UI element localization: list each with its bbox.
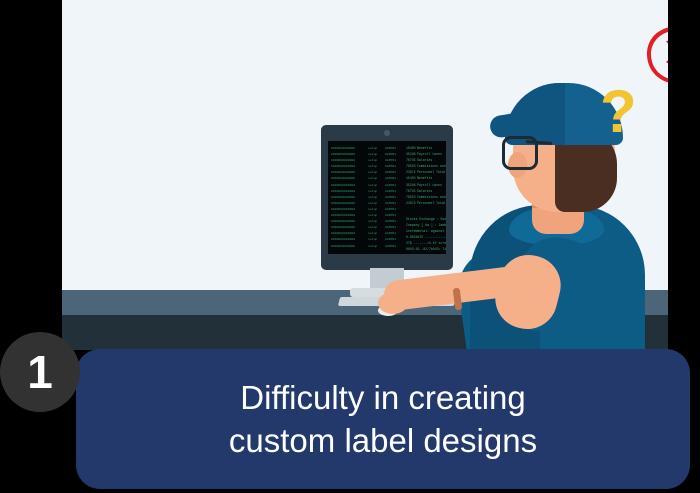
screen-terminal-output: Stocks Exchange : Sue 446 feed Company [… bbox=[406, 216, 446, 253]
question-mark-icon: ? bbox=[600, 82, 637, 142]
step-number-badge: 1 bbox=[0, 332, 80, 412]
illustration-card: 0000000000000 0000000000000 000000000000… bbox=[0, 0, 700, 493]
person-hand bbox=[378, 292, 408, 314]
step-number: 1 bbox=[27, 349, 53, 395]
ledger-row: 23874Personnel Total1322NSA bbox=[406, 200, 446, 206]
caption-text: Difficulty in creating custom label desi… bbox=[229, 376, 537, 462]
caption-line-2: custom label designs bbox=[229, 419, 537, 462]
x-circle-icon bbox=[640, 20, 668, 90]
illustration-panel: 0000000000000 0000000000000 000000000000… bbox=[62, 0, 668, 350]
ledger-cell-num: 23874 bbox=[406, 200, 416, 206]
monitor-screen: 0000000000000 0000000000000 000000000000… bbox=[328, 141, 446, 254]
screen-code-column-1: 0000000000000 0000000000000 000000000000… bbox=[331, 145, 355, 249]
screen-ledger-list: 10450Benefits1027NSA35248Payroll taxes10… bbox=[406, 145, 446, 206]
webcam-icon bbox=[384, 130, 390, 136]
caption-box: Difficulty in creating custom label desi… bbox=[76, 349, 690, 489]
glasses-icon bbox=[502, 136, 538, 170]
screen-code-column-2: setup setup setup setup setup setup setu… bbox=[368, 145, 377, 249]
screen-code-column-3: AAPP01 AAPP01 AAPP01 AAPP01 AAPP01 AAPP0… bbox=[385, 145, 396, 249]
ledger-cell-lbl: Personnel Total bbox=[417, 200, 446, 206]
caption-line-1: Difficulty in creating bbox=[229, 376, 537, 419]
